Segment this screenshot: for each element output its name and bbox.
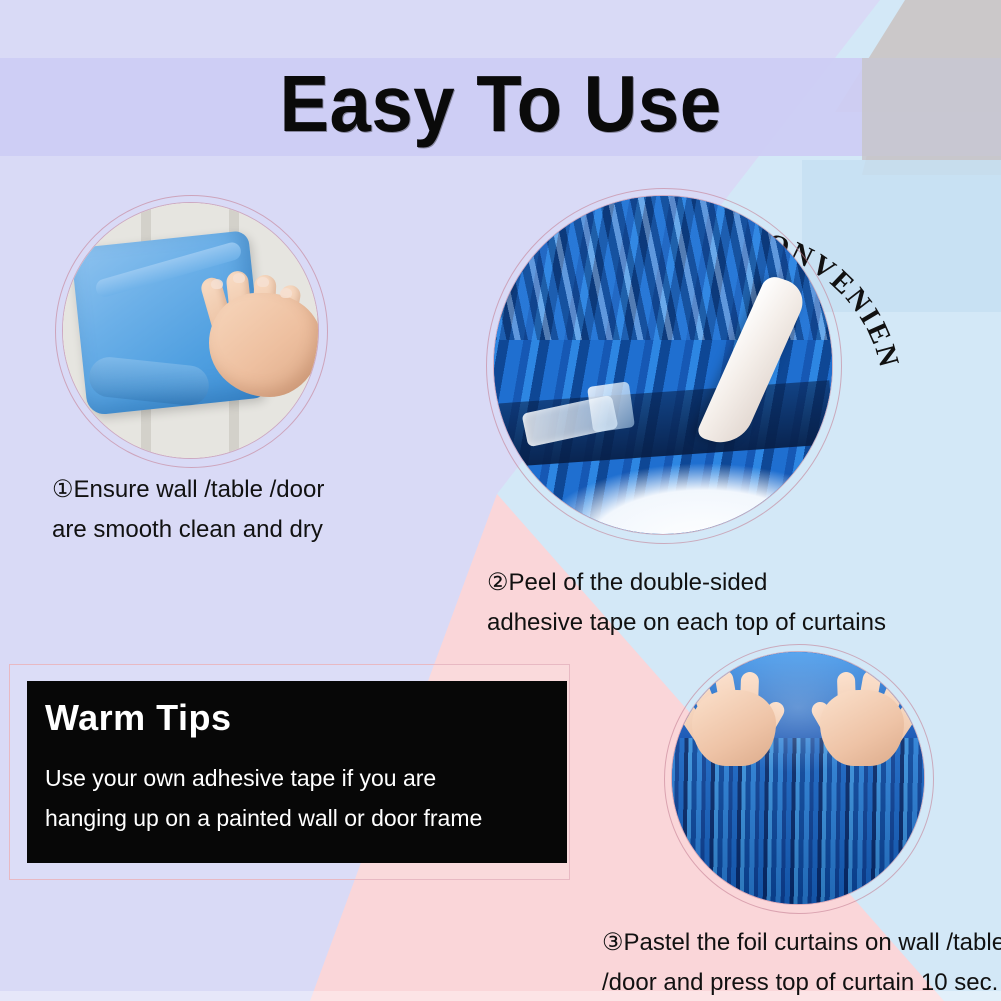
photo-step-3-press-curtain <box>672 652 924 904</box>
nail-middle <box>233 273 245 283</box>
nail-ring <box>257 277 269 287</box>
adhesive-tape-tab <box>587 381 635 432</box>
infographic-page: Easy To Use VERY CONVENIENT <box>0 0 1001 1001</box>
nail-pinky <box>280 288 292 298</box>
caption-step-1: ①Ensure wall /table /door are smooth cle… <box>52 470 324 550</box>
photo-step-1-wipe-surface <box>63 203 318 458</box>
hand-right-pressing <box>806 656 918 768</box>
warm-tips-line-1: Use your own adhesive tape if you are <box>45 758 545 798</box>
caption-step-1-line-2: are smooth clean and dry <box>52 510 324 550</box>
page-title: Easy To Use <box>35 62 966 146</box>
photo-step-2-peel-tape <box>494 196 832 534</box>
white-backdrop <box>494 432 832 534</box>
hand-left-pressing <box>678 656 790 768</box>
caption-step-2-line-2: adhesive tape on each top of curtains <box>487 603 886 643</box>
warm-tips-body: Use your own adhesive tape if you are ha… <box>45 758 545 838</box>
caption-step-3-line-2: /door and press top of curtain 10 sec. <box>602 963 1001 1001</box>
caption-step-3-line-1: ③Pastel the foil curtains on wall /table <box>602 923 1001 963</box>
hand-wiping <box>167 269 317 397</box>
warm-tips-title: Warm Tips <box>45 697 232 739</box>
left-palm <box>692 690 776 766</box>
palm <box>209 293 318 397</box>
warm-tips-line-2: hanging up on a painted wall or door fra… <box>45 798 545 838</box>
caption-step-2-line-1: ②Peel of the double-sided <box>487 563 886 603</box>
caption-step-1-line-1: ①Ensure wall /table /door <box>52 470 324 510</box>
nail-index <box>211 279 223 289</box>
caption-step-2: ②Peel of the double-sided adhesive tape … <box>487 563 886 643</box>
caption-step-3: ③Pastel the foil curtains on wall /table… <box>602 923 1001 1001</box>
right-palm <box>820 690 904 766</box>
